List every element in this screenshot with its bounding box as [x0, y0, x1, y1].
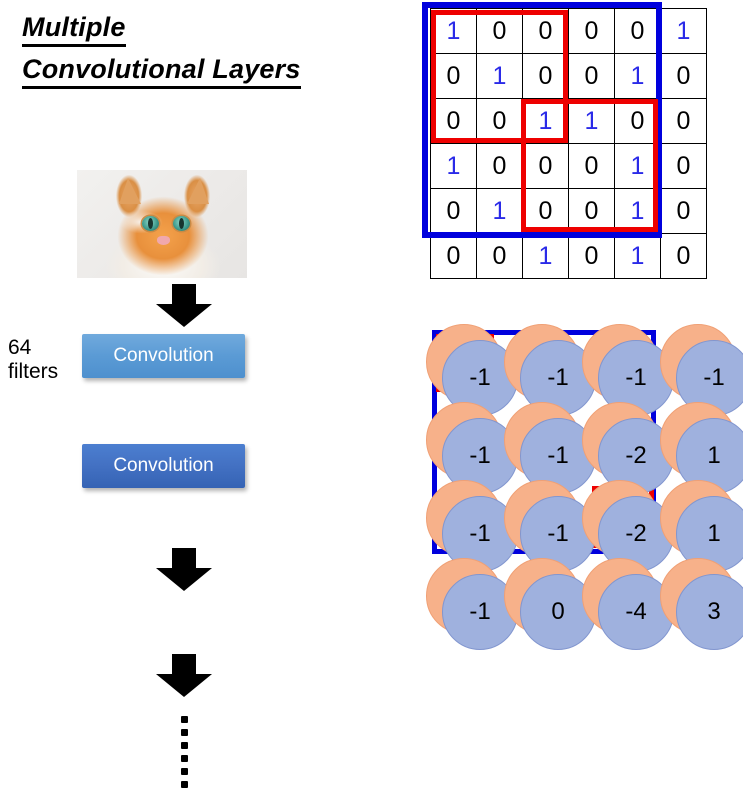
- feature-map-cell: 1: [661, 9, 707, 54]
- filters-count: 64: [8, 336, 84, 360]
- feature-map-cell: 1: [569, 99, 615, 144]
- feature-map-cell: 0: [523, 54, 569, 99]
- arrow-down-icon-1: [156, 284, 212, 327]
- feature-map-cell: 0: [661, 189, 707, 234]
- cat-ear-left-icon: [119, 178, 141, 204]
- ellipsis-dot: [181, 755, 188, 762]
- arrow-stem: [172, 284, 196, 304]
- feature-map-cell: 1: [431, 144, 477, 189]
- table-row: 010010: [431, 189, 707, 234]
- table-row: 010010: [431, 54, 707, 99]
- feature-map-cell: 1: [615, 54, 661, 99]
- feature-map-cell: 0: [523, 144, 569, 189]
- feature-map-cell: 0: [431, 54, 477, 99]
- feature-map-cell: 0: [477, 234, 523, 279]
- feature-map-cell: 1: [523, 234, 569, 279]
- convolution-block-1-label: Convolution: [113, 345, 213, 367]
- feature-map-cell: 0: [477, 144, 523, 189]
- arrow-stem: [172, 548, 196, 568]
- feature-map-cell: 0: [477, 9, 523, 54]
- arrow-head: [156, 568, 212, 591]
- feature-map-cell: 0: [523, 9, 569, 54]
- table-row: 001100: [431, 99, 707, 144]
- ellipsis-dot: [181, 781, 188, 788]
- feature-map-cell: 1: [615, 144, 661, 189]
- feature-map-grid: 100001010010001100100010010010001010: [430, 8, 707, 279]
- feature-map-cell: 1: [523, 99, 569, 144]
- feature-map-cell: 1: [431, 9, 477, 54]
- feature-map-cell: 0: [431, 234, 477, 279]
- feature-map-cell: 0: [661, 144, 707, 189]
- cat-eye-left-icon: [142, 216, 159, 231]
- feature-map-cell: 0: [615, 99, 661, 144]
- feature-map-cell: 0: [661, 234, 707, 279]
- ellipsis-dot: [181, 729, 188, 736]
- convolution-block-1[interactable]: Convolution: [82, 334, 245, 378]
- feature-map-cell: 1: [615, 234, 661, 279]
- activation-cell: 3: [676, 574, 743, 650]
- cat-photo: [77, 170, 247, 278]
- activation-map-grid: -1-1-1-1-1-1-21-1-1-21-10-43: [404, 318, 734, 628]
- table-row: 001010: [431, 234, 707, 279]
- feature-map-cell: 0: [569, 189, 615, 234]
- filters-word: filters: [8, 360, 84, 384]
- ellipsis-dot: [181, 742, 188, 749]
- table-row: 100010: [431, 144, 707, 189]
- cat-eye-right-icon: [173, 216, 190, 231]
- feature-map-cell: 0: [569, 9, 615, 54]
- feature-map-cell: 0: [615, 9, 661, 54]
- feature-map-table: 100001010010001100100010010010001010: [430, 8, 707, 279]
- feature-map-body: 100001010010001100100010010010001010: [431, 9, 707, 279]
- arrow-down-icon-2: [156, 548, 212, 591]
- feature-map-cell: 0: [431, 99, 477, 144]
- arrow-head: [156, 674, 212, 697]
- feature-map-cell: 0: [661, 54, 707, 99]
- feature-map-cell: 1: [477, 189, 523, 234]
- feature-map-cell: 1: [615, 189, 661, 234]
- activation-circle-front: 3: [676, 574, 743, 650]
- cnn-pipeline: 64 filters Convolution Convolution: [0, 160, 330, 630]
- feature-map-cell: 1: [477, 54, 523, 99]
- feature-map-cell: 0: [569, 144, 615, 189]
- feature-map-cell: 0: [569, 234, 615, 279]
- title-line-1: Multiple: [22, 14, 126, 47]
- ellipsis-dot: [181, 716, 188, 723]
- feature-map-cell: 0: [661, 99, 707, 144]
- arrow-head: [156, 304, 212, 327]
- title-line-2: Convolutional Layers: [22, 56, 301, 89]
- table-row: 100001: [431, 9, 707, 54]
- feature-map-cell: 0: [431, 189, 477, 234]
- feature-map-cell: 0: [477, 99, 523, 144]
- cat-ear-right-icon: [187, 178, 209, 204]
- convolution-block-2[interactable]: Convolution: [82, 444, 245, 488]
- feature-map-cell: 0: [523, 189, 569, 234]
- cat-nose-icon: [157, 236, 170, 245]
- vertical-ellipsis-icon: [176, 716, 192, 794]
- arrow-down-icon-3: [156, 654, 212, 697]
- page-title: Multiple Convolutional Layers: [22, 14, 372, 98]
- ellipsis-dot: [181, 768, 188, 775]
- arrow-stem: [172, 654, 196, 674]
- filters-label: 64 filters: [8, 336, 84, 383]
- feature-map-cell: 0: [569, 54, 615, 99]
- convolution-block-2-label: Convolution: [113, 455, 213, 477]
